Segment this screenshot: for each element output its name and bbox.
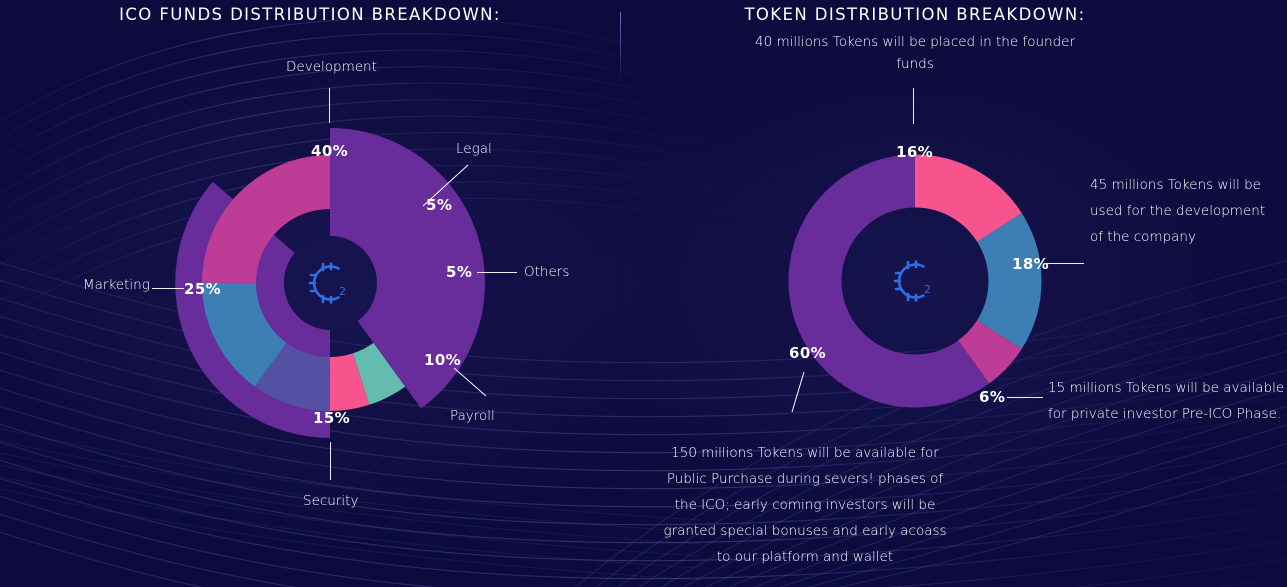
percent-development: 40% <box>311 142 348 160</box>
leader-public-purchase <box>786 370 810 416</box>
section-divider <box>620 12 621 80</box>
leader-others <box>477 272 517 273</box>
leader-founder-funds <box>913 88 914 124</box>
percent-others: 5% <box>446 263 472 281</box>
leader-marketing <box>152 288 184 289</box>
c2-coin-logo-icon: 2 <box>895 262 931 301</box>
label-others: Others <box>524 264 569 280</box>
svg-text:2: 2 <box>924 283 931 296</box>
percent-legal: 5% <box>426 196 452 214</box>
right-chart-title: TOKEN DISTRIBUTION BREAKDOWN: <box>650 5 1180 24</box>
leader-company-development <box>1046 263 1084 264</box>
label-development: Development <box>286 59 377 75</box>
svg-text:2: 2 <box>339 285 346 298</box>
percent-founder-funds: 16% <box>896 143 933 161</box>
right-chart-subtitle: 40 millions Tokens will be placed in the… <box>740 31 1090 75</box>
infographic-page: ICO FUNDS DISTRIBUTION BREAKDOWN: <box>0 0 1287 587</box>
leader-development <box>329 88 330 123</box>
percent-preico: 6% <box>979 388 1005 406</box>
percent-marketing: 25% <box>184 280 221 298</box>
leader-security <box>330 442 331 480</box>
leader-preico <box>1007 397 1043 398</box>
label-legal: Legal <box>456 141 492 157</box>
left-chart-title: ICO FUNDS DISTRIBUTION BREAKDOWN: <box>0 5 620 24</box>
label-payroll: Payroll <box>450 408 495 424</box>
percent-security: 15% <box>313 409 350 427</box>
leader-payroll <box>452 366 494 402</box>
note-preico: 15 millions Tokens will be available for… <box>1048 375 1287 427</box>
percent-public-purchase: 60% <box>789 344 826 362</box>
label-marketing: Marketing <box>83 277 150 293</box>
note-public-purchase: 150 millions Tokens will be available fo… <box>655 440 955 570</box>
label-security: Security <box>303 493 358 509</box>
note-company-development: 45 millions Tokens will be used for the … <box>1090 172 1280 250</box>
c2-coin-logo-icon: 2 <box>310 264 346 303</box>
percent-company-development: 18% <box>1012 255 1049 273</box>
